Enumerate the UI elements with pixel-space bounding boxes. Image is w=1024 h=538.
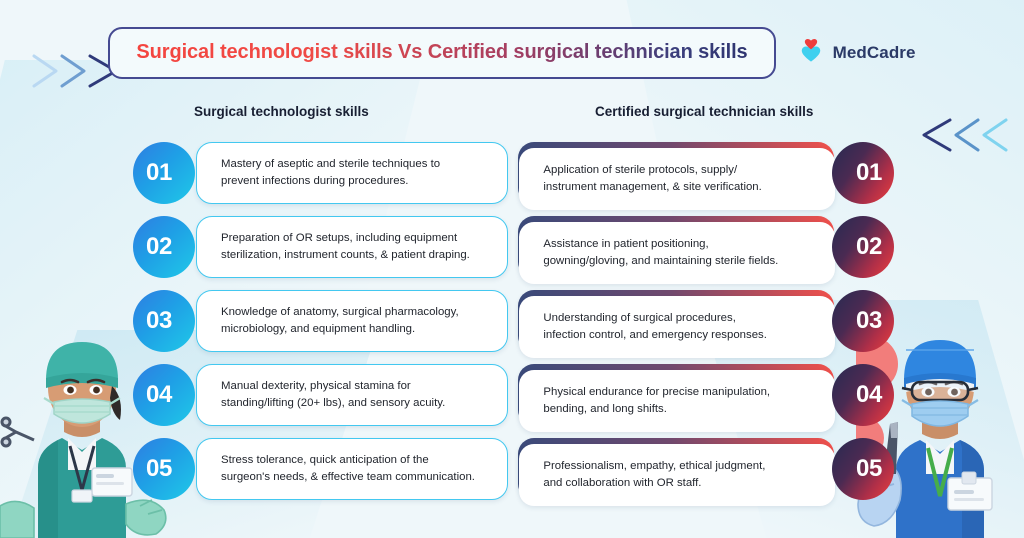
left-number-label: 04 <box>146 381 172 409</box>
right-skill-card[interactable]: Professionalism, empathy, ethical judgme… <box>518 438 834 500</box>
right-number-label: 03 <box>856 307 882 335</box>
right-number-label: 01 <box>856 159 882 187</box>
right-skill-text: Application of sterile protocols, supply… <box>543 162 761 197</box>
comparison-row: Stress tolerance, quick anticipation of … <box>0 432 1024 506</box>
comparison-row: Knowledge of anatomy, surgical pharmacol… <box>0 284 1024 358</box>
brand-logo[interactable]: MedCadre <box>798 37 916 70</box>
left-skill-text: Manual dexterity, physical stamina for s… <box>221 378 445 413</box>
right-number-label: 02 <box>856 233 882 261</box>
left-number-label: 03 <box>146 307 172 335</box>
left-number-badge: 01 <box>133 142 195 204</box>
right-skill-card[interactable]: Application of sterile protocols, supply… <box>518 142 834 204</box>
heart-logo-icon <box>798 37 824 70</box>
right-number-badge: 05 <box>832 438 894 500</box>
comparison-row: Preparation of OR setups, including equi… <box>0 210 1024 284</box>
page-title: Surgical technologist skills Vs Certifie… <box>136 41 747 64</box>
right-number-badge: 02 <box>832 216 894 278</box>
right-skill-text: Assistance in patient positioning, gowni… <box>543 236 778 271</box>
header: Surgical technologist skills Vs Certifie… <box>0 27 1024 79</box>
comparison-rows: Mastery of aseptic and sterile technique… <box>0 136 1024 506</box>
title-box: Surgical technologist skills Vs Certifie… <box>108 27 775 79</box>
right-skill-text: Physical endurance for precise manipulat… <box>543 384 770 419</box>
left-number-label: 05 <box>146 455 172 483</box>
right-number-badge: 03 <box>832 290 894 352</box>
left-number-badge: 04 <box>133 364 195 426</box>
right-number-badge: 04 <box>832 364 894 426</box>
right-skill-card[interactable]: Physical endurance for precise manipulat… <box>518 364 834 426</box>
right-skill-text: Understanding of surgical procedures, in… <box>543 310 767 345</box>
left-skill-card[interactable]: Knowledge of anatomy, surgical pharmacol… <box>196 290 508 352</box>
surgical-technologist-illustration <box>0 328 170 538</box>
brand-name: MedCadre <box>833 43 916 63</box>
right-number-label: 04 <box>856 381 882 409</box>
comparison-row: Manual dexterity, physical stamina for s… <box>0 358 1024 432</box>
left-number-badge: 03 <box>133 290 195 352</box>
left-skill-card[interactable]: Manual dexterity, physical stamina for s… <box>196 364 508 426</box>
left-number-label: 02 <box>146 233 172 261</box>
left-skill-card[interactable]: Mastery of aseptic and sterile technique… <box>196 142 508 204</box>
left-skill-text: Knowledge of anatomy, surgical pharmacol… <box>221 304 459 339</box>
column-heading-left: Surgical technologist skills <box>194 104 369 119</box>
right-skill-card[interactable]: Understanding of surgical procedures, in… <box>518 290 834 352</box>
left-number-label: 01 <box>146 159 172 187</box>
left-number-badge: 02 <box>133 216 195 278</box>
left-number-badge: 05 <box>133 438 195 500</box>
left-skill-text: Preparation of OR setups, including equi… <box>221 230 470 265</box>
right-skill-card[interactable]: Assistance in patient positioning, gowni… <box>518 216 834 278</box>
left-skill-card[interactable]: Preparation of OR setups, including equi… <box>196 216 508 278</box>
comparison-row: Mastery of aseptic and sterile technique… <box>0 136 1024 210</box>
surgical-technician-illustration <box>856 328 1024 538</box>
right-skill-text: Professionalism, empathy, ethical judgme… <box>543 458 765 493</box>
left-skill-text: Mastery of aseptic and sterile technique… <box>221 156 440 191</box>
column-headings: Surgical technologist skills Certified s… <box>0 104 1024 124</box>
right-number-badge: 01 <box>832 142 894 204</box>
left-skill-text: Stress tolerance, quick anticipation of … <box>221 452 475 487</box>
right-number-label: 05 <box>856 455 882 483</box>
left-skill-card[interactable]: Stress tolerance, quick anticipation of … <box>196 438 508 500</box>
column-heading-right: Certified surgical technician skills <box>595 104 813 119</box>
